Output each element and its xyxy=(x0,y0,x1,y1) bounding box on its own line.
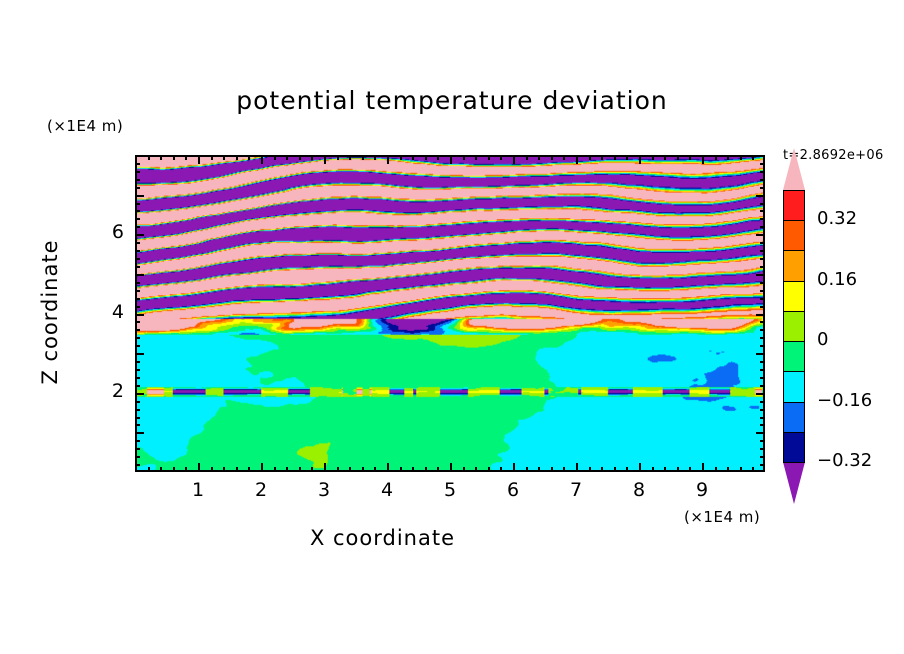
x-minor-tick xyxy=(236,467,238,472)
colorbar-tick-label: 0 xyxy=(817,329,828,350)
y-minor-tick xyxy=(135,456,140,458)
colorbar xyxy=(783,190,805,462)
x-top-tick xyxy=(576,155,578,164)
y-minor-tick xyxy=(135,203,140,205)
x-minor-tick xyxy=(337,467,339,472)
x-minor-tick xyxy=(463,467,465,472)
colorbar-band xyxy=(783,250,805,282)
x-top-tick xyxy=(160,155,162,160)
y-right-tick xyxy=(760,337,765,339)
x-tick-label: 8 xyxy=(619,479,659,501)
colorbar-over-arrow xyxy=(783,148,805,190)
x-top-tick xyxy=(500,155,502,160)
x-tick-label: 2 xyxy=(241,479,281,501)
x-minor-tick xyxy=(538,467,540,472)
y-minor-tick xyxy=(135,329,140,331)
x-minor-tick xyxy=(223,467,225,472)
y-minor-tick xyxy=(135,242,140,244)
x-minor-tick xyxy=(500,467,502,472)
x-minor-tick xyxy=(715,467,717,472)
x-top-tick xyxy=(526,155,528,160)
y-right-tick xyxy=(760,448,765,450)
y-minor-tick xyxy=(135,258,140,260)
colorbar-band xyxy=(783,281,805,313)
y-minor-tick xyxy=(135,218,140,220)
x-minor-tick xyxy=(589,467,591,472)
y-right-tick xyxy=(760,250,765,252)
y-major-tick xyxy=(135,353,144,355)
y-major-tick xyxy=(135,314,144,316)
colorbar-band xyxy=(783,190,805,222)
x-top-tick xyxy=(513,155,515,164)
x-minor-tick xyxy=(425,467,427,472)
x-top-tick xyxy=(639,155,641,164)
y-minor-tick xyxy=(135,401,140,403)
colorbar-tick-label: 0.32 xyxy=(817,208,857,229)
x-major-tick xyxy=(450,463,452,472)
x-top-tick xyxy=(614,155,616,160)
x-minor-tick xyxy=(677,467,679,472)
x-top-tick xyxy=(311,155,313,160)
y-minor-tick xyxy=(135,266,140,268)
x-tick-label: 6 xyxy=(493,479,533,501)
x-minor-tick xyxy=(601,467,603,472)
y-right-tick xyxy=(760,171,765,173)
x-top-tick xyxy=(236,155,238,160)
y-right-tick xyxy=(760,226,765,228)
x-top-tick xyxy=(374,155,376,160)
y-right-tick xyxy=(760,464,765,466)
y-right-tick xyxy=(756,195,765,197)
y-axis-units-label: (×1E4 m) xyxy=(47,117,123,135)
y-major-tick xyxy=(135,195,144,197)
x-top-tick xyxy=(211,155,213,160)
x-minor-tick xyxy=(248,467,250,472)
y-major-tick xyxy=(135,274,144,276)
x-minor-tick xyxy=(689,467,691,472)
x-top-tick xyxy=(551,155,553,160)
y-right-tick xyxy=(760,321,765,323)
x-major-tick xyxy=(387,463,389,472)
x-major-tick xyxy=(639,463,641,472)
y-minor-tick xyxy=(135,282,140,284)
scalar-field-image xyxy=(137,157,763,470)
y-minor-tick xyxy=(135,226,140,228)
x-top-tick xyxy=(274,155,276,160)
x-axis-units-label: (×1E4 m) xyxy=(684,508,760,526)
x-major-tick xyxy=(198,463,200,472)
colorbar-band xyxy=(783,371,805,403)
x-minor-tick xyxy=(614,467,616,472)
y-major-tick xyxy=(135,393,144,395)
x-top-tick xyxy=(337,155,339,160)
y-tick-label: 6 xyxy=(96,221,124,243)
x-top-tick xyxy=(387,155,389,164)
y-minor-tick xyxy=(135,417,140,419)
y-minor-tick xyxy=(135,187,140,189)
y-minor-tick xyxy=(135,250,140,252)
y-right-tick xyxy=(756,314,765,316)
x-top-tick xyxy=(563,155,565,160)
y-minor-tick xyxy=(135,385,140,387)
x-top-tick xyxy=(362,155,364,160)
y-minor-tick xyxy=(135,321,140,323)
y-right-tick xyxy=(760,385,765,387)
x-top-tick xyxy=(148,155,150,160)
y-right-tick xyxy=(760,179,765,181)
x-top-tick xyxy=(601,155,603,160)
x-major-tick xyxy=(576,463,578,472)
colorbar-tick-label: −0.16 xyxy=(817,390,872,411)
y-minor-tick xyxy=(135,361,140,363)
x-minor-tick xyxy=(362,467,364,472)
y-right-tick xyxy=(760,290,765,292)
y-minor-tick xyxy=(135,464,140,466)
colorbar-band xyxy=(783,341,805,373)
colorbar-under-arrow xyxy=(783,462,805,504)
x-minor-tick xyxy=(664,467,666,472)
x-tick-label: 3 xyxy=(304,479,344,501)
x-minor-tick xyxy=(311,467,313,472)
y-right-tick xyxy=(760,282,765,284)
x-top-tick xyxy=(538,155,540,160)
y-minor-tick xyxy=(135,171,140,173)
x-minor-tick xyxy=(652,467,654,472)
y-right-tick xyxy=(760,163,765,165)
x-top-tick xyxy=(488,155,490,160)
y-right-tick xyxy=(760,298,765,300)
x-top-tick xyxy=(400,155,402,160)
x-tick-label: 5 xyxy=(430,479,470,501)
x-minor-tick xyxy=(400,467,402,472)
x-top-tick xyxy=(261,155,263,164)
x-top-tick xyxy=(198,155,200,164)
x-minor-tick xyxy=(160,467,162,472)
x-minor-tick xyxy=(752,467,754,472)
y-minor-tick xyxy=(135,163,140,165)
x-top-tick xyxy=(589,155,591,160)
colorbar-band xyxy=(783,432,805,464)
x-top-tick xyxy=(752,155,754,160)
x-minor-tick xyxy=(488,467,490,472)
x-top-tick xyxy=(463,155,465,160)
x-tick-label: 1 xyxy=(178,479,218,501)
x-top-tick xyxy=(715,155,717,160)
y-right-tick xyxy=(760,417,765,419)
x-minor-tick xyxy=(211,467,213,472)
x-tick-label: 4 xyxy=(367,479,407,501)
x-tick-label: 9 xyxy=(682,479,722,501)
x-minor-tick xyxy=(185,467,187,472)
x-minor-tick xyxy=(412,467,414,472)
y-minor-tick xyxy=(135,369,140,371)
x-top-tick xyxy=(677,155,679,160)
y-minor-tick xyxy=(135,210,140,212)
figure-canvas: potential temperature deviation (×1E4 m)… xyxy=(0,0,904,654)
y-minor-tick xyxy=(135,424,140,426)
y-right-tick xyxy=(760,456,765,458)
x-major-tick xyxy=(702,463,704,472)
colorbar-tick-label: 0.16 xyxy=(817,269,857,290)
y-right-tick xyxy=(756,393,765,395)
x-top-tick xyxy=(475,155,477,160)
x-minor-tick xyxy=(475,467,477,472)
y-minor-tick xyxy=(135,306,140,308)
y-minor-tick xyxy=(135,345,140,347)
y-tick-label: 2 xyxy=(96,380,124,402)
colorbar-band xyxy=(783,220,805,252)
y-minor-tick xyxy=(135,337,140,339)
x-top-tick xyxy=(664,155,666,160)
x-minor-tick xyxy=(274,467,276,472)
figure-title: potential temperature deviation xyxy=(0,86,904,115)
x-minor-tick xyxy=(563,467,565,472)
y-minor-tick xyxy=(135,440,140,442)
y-minor-tick xyxy=(135,409,140,411)
x-top-tick xyxy=(223,155,225,160)
y-major-tick xyxy=(135,432,144,434)
y-right-tick xyxy=(760,187,765,189)
y-minor-tick xyxy=(135,179,140,181)
y-right-tick xyxy=(760,329,765,331)
x-top-tick xyxy=(652,155,654,160)
y-right-tick xyxy=(760,377,765,379)
x-major-tick xyxy=(261,463,263,472)
x-top-tick xyxy=(689,155,691,160)
y-right-tick xyxy=(756,432,765,434)
y-right-tick xyxy=(760,210,765,212)
y-right-tick xyxy=(760,258,765,260)
y-right-tick xyxy=(756,274,765,276)
y-right-tick xyxy=(756,353,765,355)
y-minor-tick xyxy=(135,298,140,300)
y-right-tick xyxy=(760,361,765,363)
x-minor-tick xyxy=(148,467,150,472)
y-right-tick xyxy=(760,424,765,426)
y-right-tick xyxy=(760,266,765,268)
x-top-tick xyxy=(740,155,742,160)
y-axis-label: Z coordinate xyxy=(38,202,62,422)
y-right-tick xyxy=(756,234,765,236)
x-tick-label: 7 xyxy=(556,479,596,501)
x-minor-tick xyxy=(299,467,301,472)
x-major-tick xyxy=(324,463,326,472)
x-top-tick xyxy=(437,155,439,160)
x-minor-tick xyxy=(349,467,351,472)
x-major-tick xyxy=(513,463,515,472)
y-right-tick xyxy=(760,218,765,220)
x-top-tick xyxy=(412,155,414,160)
x-top-tick xyxy=(425,155,427,160)
x-top-tick xyxy=(450,155,452,164)
y-minor-tick xyxy=(135,290,140,292)
y-right-tick xyxy=(760,203,765,205)
x-top-tick xyxy=(727,155,729,160)
y-minor-tick xyxy=(135,448,140,450)
y-right-tick xyxy=(760,306,765,308)
x-minor-tick xyxy=(286,467,288,472)
x-minor-tick xyxy=(626,467,628,472)
x-top-tick xyxy=(349,155,351,160)
y-right-tick xyxy=(760,345,765,347)
y-tick-label: 4 xyxy=(96,301,124,323)
colorbar-band xyxy=(783,402,805,434)
x-top-tick xyxy=(185,155,187,160)
x-minor-tick xyxy=(374,467,376,472)
x-minor-tick xyxy=(740,467,742,472)
colorbar-tick-label: −0.32 xyxy=(817,450,872,471)
x-top-tick xyxy=(702,155,704,164)
x-axis-label: X coordinate xyxy=(0,526,765,550)
x-minor-tick xyxy=(437,467,439,472)
x-top-tick xyxy=(248,155,250,160)
colorbar-band xyxy=(783,311,805,343)
contour-plot-area xyxy=(135,155,765,472)
y-right-tick xyxy=(760,401,765,403)
y-right-tick xyxy=(760,409,765,411)
y-minor-tick xyxy=(135,377,140,379)
x-top-tick xyxy=(173,155,175,160)
x-top-tick xyxy=(286,155,288,160)
y-right-tick xyxy=(760,440,765,442)
x-top-tick xyxy=(299,155,301,160)
y-major-tick xyxy=(135,234,144,236)
x-minor-tick xyxy=(727,467,729,472)
x-top-tick xyxy=(626,155,628,160)
x-top-tick xyxy=(324,155,326,164)
y-right-tick xyxy=(760,369,765,371)
y-right-tick xyxy=(760,242,765,244)
x-minor-tick xyxy=(173,467,175,472)
x-minor-tick xyxy=(551,467,553,472)
x-minor-tick xyxy=(526,467,528,472)
